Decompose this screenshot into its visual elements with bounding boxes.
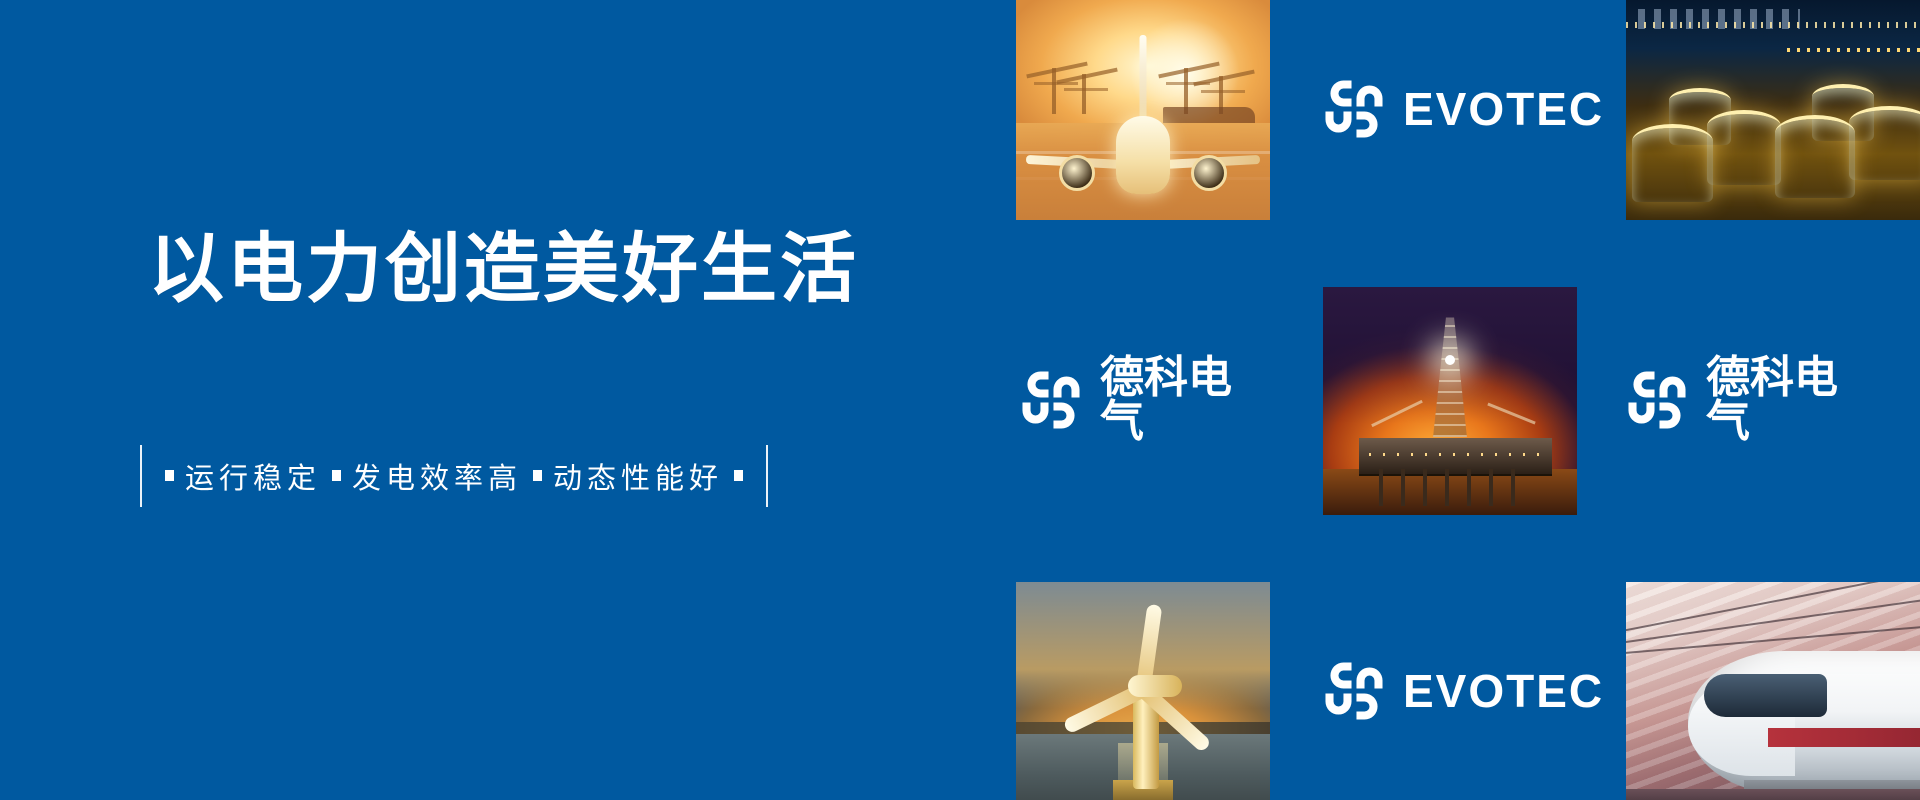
tile-oil-storage-tanks [1626, 0, 1920, 220]
storage-tank [1849, 106, 1920, 180]
bullet-icon [332, 470, 341, 481]
pinwheel-logo-mark [1323, 660, 1385, 722]
evotec-wordmark: EVOTEC [1403, 86, 1604, 132]
tile-deke-logo-right: 德科电气 [1626, 291, 1872, 509]
ship-shape [1163, 107, 1254, 123]
storage-tank [1632, 124, 1713, 203]
crane-icon [1052, 68, 1056, 114]
bullet-icon [165, 470, 174, 481]
turbine-nacelle [1128, 675, 1182, 697]
pinwheel-logo-mark [1626, 369, 1688, 431]
pinwheel-logo-mark [1020, 369, 1082, 431]
tagline-item-2: 发电效率高 [350, 455, 524, 497]
deke-wordmark: 德科电气 [1706, 356, 1872, 444]
pier-lights [1787, 48, 1920, 52]
tagline-list: 运行稳定 发电效率高 动态性能好 [156, 455, 752, 497]
tile-deke-logo-left: 德科电气 [1020, 291, 1266, 509]
oil-tanks-photo [1626, 0, 1920, 220]
wind-turbine-photo [1016, 582, 1270, 800]
tagline-item-3: 动态性能好 [551, 455, 725, 497]
plane-engine-right [1191, 155, 1227, 191]
deke-wordmark: 德科电气 [1100, 356, 1266, 444]
beacon-light [1445, 355, 1455, 365]
logo-lockup: 德科电气 [1626, 356, 1872, 444]
deck-lights [1369, 453, 1542, 456]
airplane-photo [1016, 0, 1270, 220]
tagline-left-rule [140, 445, 142, 507]
bullet-icon [533, 470, 542, 481]
storage-tank [1775, 115, 1856, 198]
tile-wind-turbine [1016, 582, 1270, 800]
tagline-item-1: 运行稳定 [183, 455, 323, 497]
train-stripe [1768, 728, 1920, 747]
plane-fuselage [1116, 116, 1170, 194]
tile-high-speed-train [1626, 582, 1920, 800]
evotec-wordmark: EVOTEC [1403, 668, 1604, 714]
pinwheel-logo-mark [1323, 78, 1385, 140]
bullet-icon [734, 470, 743, 481]
copy-block: 以电力创造美好生活 运行稳定 发电效率高 动态性能好 [0, 0, 1020, 800]
crane-icon [1082, 74, 1086, 114]
rail-bed [1626, 789, 1920, 800]
train-windshield [1704, 674, 1827, 717]
tagline-right-rule [766, 445, 768, 507]
rig-legs [1379, 469, 1521, 505]
promo-banner: 以电力创造美好生活 运行稳定 发电效率高 动态性能好 [0, 0, 1920, 800]
tile-offshore-oil-rig [1323, 287, 1577, 515]
logo-lockup: 德科电气 [1020, 356, 1266, 444]
storage-tank [1707, 110, 1781, 184]
train-photo [1626, 582, 1920, 800]
tile-evotec-logo-top: EVOTEC [1323, 0, 1569, 218]
tile-evotec-logo-bottom: EVOTEC [1323, 582, 1569, 800]
tagline-group: 运行稳定 发电效率高 动态性能好 [140, 443, 768, 509]
page-title: 以电力创造美好生活 [148, 232, 859, 308]
logo-lockup: EVOTEC [1323, 660, 1604, 722]
logo-lockup: EVOTEC [1323, 78, 1604, 140]
train-body [1688, 651, 1920, 794]
tile-airplane-cargo-port [1016, 0, 1270, 220]
shore-lights [1626, 22, 1920, 28]
media-grid: EVOTEC [1020, 0, 1920, 800]
oil-rig-photo [1323, 287, 1577, 515]
